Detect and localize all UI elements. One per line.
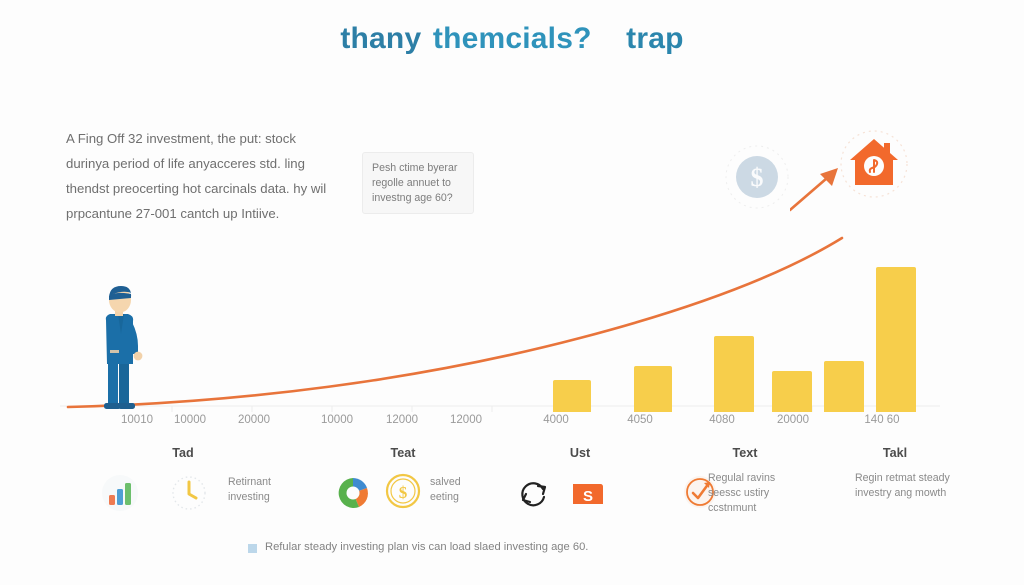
legend-head-teat: Teat: [391, 446, 416, 460]
legend-head-tad: Tad: [172, 446, 193, 460]
folder-s-icon: S: [568, 472, 608, 512]
bar-6: [876, 267, 916, 412]
axis-tick-11: 140 60: [864, 414, 899, 426]
legend-text-retirement-l1: Retirnant: [228, 475, 338, 490]
svg-text:$: $: [399, 483, 408, 502]
clock-icon: [169, 473, 209, 513]
bar-1: [553, 380, 591, 412]
legend-text-salved-l2: eeting: [430, 490, 540, 505]
dollar-coin-icon: $: [383, 471, 423, 511]
dollar-circle-icon: $: [724, 144, 790, 210]
legend-text-steady-l1: Regin retmat steady: [855, 471, 995, 486]
legend-head-ust: Ust: [570, 446, 590, 460]
axis-tick-2: 10000: [174, 414, 206, 426]
title-part-2: themcials?: [433, 22, 592, 55]
legend-text-regular-l2: seessc ustiry: [708, 486, 818, 501]
axis-tick-10: 20000: [777, 414, 809, 426]
svg-text:$: $: [751, 163, 764, 192]
svg-text:S: S: [583, 488, 593, 505]
legend-text-retirement-l2: investing: [228, 490, 338, 505]
callout-line-3: investng age 60?: [372, 191, 464, 206]
legend-row: Tad Teat Ust Text Takl $: [0, 446, 1024, 526]
x-axis-labels: 10010 10000 20000 10000 12000 12000 4000…: [0, 414, 1024, 432]
axis-tick-3: 20000: [238, 414, 270, 426]
callout-line-2: regolle annuet to: [372, 176, 464, 191]
legend-text-salved-l1: salved: [430, 475, 540, 490]
page-title: thany themcials? trap: [0, 22, 1024, 56]
pie-chart-icon: [333, 473, 373, 513]
axis-tick-1: 10010: [121, 414, 153, 426]
axis-tick-9: 4080: [709, 414, 735, 426]
footer-legend-swatch: [248, 544, 257, 553]
title-part-3: trap: [626, 22, 683, 55]
legend-head-text: Text: [733, 446, 758, 460]
footer-legend: Refular steady investing plan vis can lo…: [248, 541, 588, 553]
axis-tick-7: 4000: [543, 414, 569, 426]
legend-head-takl: Takl: [883, 446, 907, 460]
house-coin-icon: [838, 128, 910, 200]
axis-tick-6: 12000: [450, 414, 482, 426]
bar-4: [772, 371, 812, 412]
body-paragraph: A Fing Off 32 investment, the put: stock…: [66, 126, 334, 226]
businessman-illustration: [88, 282, 152, 412]
footer-legend-label: Refular steady investing plan vis can lo…: [265, 541, 588, 553]
bar-series: [0, 240, 1024, 412]
legend-text-retirement: Retirnant investing: [228, 475, 338, 505]
axis-tick-4: 10000: [321, 414, 353, 426]
bar-2: [634, 366, 672, 412]
callout-line-1: Pesh ctime byerar: [372, 161, 464, 176]
legend-text-steady: Regin retmat steady investry ang mowth: [855, 471, 995, 501]
legend-text-steady-l2: investry ang mowth: [855, 486, 995, 501]
businessman-figure: [104, 286, 142, 409]
legend-text-regular-l1: Regulal ravins: [708, 471, 818, 486]
bar-5: [824, 361, 864, 412]
title-part-1: thany: [340, 22, 421, 55]
legend-text-regular-l3: ccstnmunt: [708, 501, 818, 516]
legend-text-salved: salved eeting: [430, 475, 540, 505]
callout-box: Pesh ctime byerar regolle annuet to inve…: [362, 152, 474, 214]
axis-tick-5: 12000: [386, 414, 418, 426]
bar-3: [714, 336, 754, 412]
bar-chart-icon: [100, 473, 140, 513]
axis-tick-8: 4050: [627, 414, 653, 426]
infographic-canvas: thany themcials? trap A Fing Off 32 inve…: [0, 0, 1024, 585]
legend-text-regular: Regulal ravins seessc ustiry ccstnmunt: [708, 471, 818, 516]
